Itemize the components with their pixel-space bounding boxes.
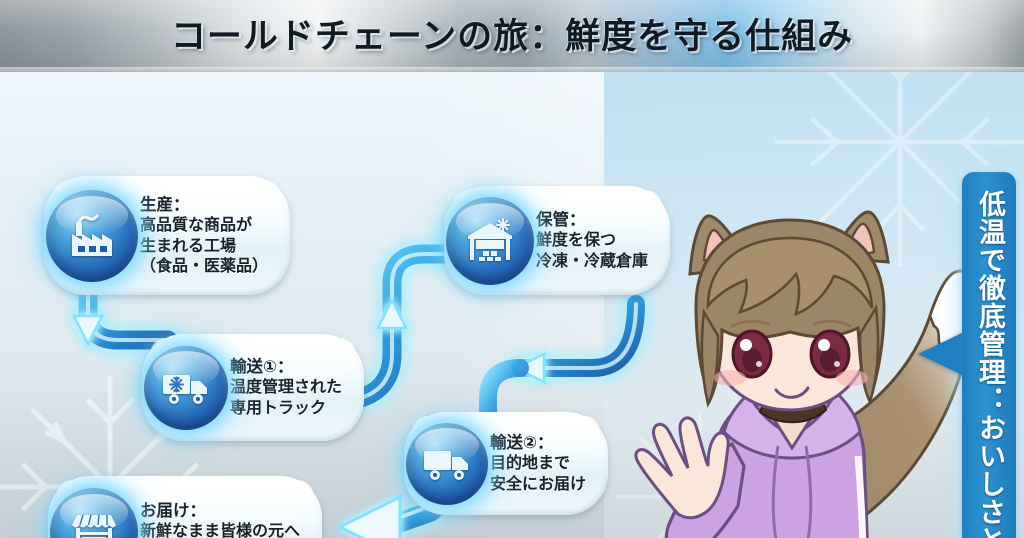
delivery-truck-icon [406, 423, 488, 505]
page-title: コールドチェーンの旅：鮮度を守る仕組み [0, 0, 1024, 66]
step-label: 輸送②：目的地まで 安全にお届け [490, 432, 586, 494]
left-arrow-icon [340, 497, 400, 538]
flow-step-delivery[interactable]: お届け：新鮮なまま皆様の元へ (店舗・飲食店) [48, 476, 322, 538]
step-heading: お届け： [140, 501, 206, 520]
eye-right [811, 331, 849, 377]
step-heading: 輸送①： [230, 357, 293, 376]
step-pill[interactable]: お届け：新鮮なまま皆様の元へ (店舗・飲食店) [48, 476, 322, 538]
flow-step-transport1[interactable]: 輸送①：温度管理された 専用トラック [142, 334, 364, 441]
step-body: 温度管理された 専用トラック [230, 377, 342, 416]
cold-warehouse-icon [446, 197, 534, 285]
step-pill[interactable]: 輸送②：目的地まで 安全にお届け [404, 412, 608, 515]
side-banner[interactable]: 低温で徹底管理：おいしさと安全を約束 [962, 172, 1016, 538]
step-pill[interactable]: 生産：高品質な商品が 生まれる工場 （食品・医薬品） [44, 176, 290, 295]
side-banner-label: 低温で徹底管理：おいしさと安全を約束 [962, 190, 1016, 538]
waving-arm [636, 418, 744, 538]
header-banner: コールドチェーンの旅：鮮度を守る仕組み [0, 0, 1024, 76]
step-label: お届け：新鮮なまま皆様の元へ (店舗・飲食店) [140, 500, 300, 538]
flow-step-transport2[interactable]: 輸送②：目的地まで 安全にお届け [404, 412, 608, 515]
eye-left [733, 331, 771, 377]
step-heading: 保管： [536, 210, 586, 229]
step-heading: 生産： [140, 195, 190, 214]
left-arrow-icon [918, 332, 964, 376]
step-pill[interactable]: 輸送①：温度管理された 専用トラック [142, 334, 364, 441]
factory-icon [46, 190, 138, 282]
diagram-canvas: 生産：高品質な商品が 生まれる工場 （食品・医薬品） [0, 72, 1024, 538]
step-label: 生産：高品質な商品が 生まれる工場 （食品・医薬品） [140, 194, 268, 277]
flow-step-production[interactable]: 生産：高品質な商品が 生まれる工場 （食品・医薬品） [44, 176, 290, 295]
step-heading: 輸送②： [490, 433, 553, 452]
infographic-root: コールドチェーンの旅：鮮度を守る仕組み [0, 0, 1024, 538]
refrigerated-truck-icon [144, 346, 228, 430]
step-body: 高品質な商品が 生まれる工場 （食品・医薬品） [140, 215, 268, 275]
step-label: 輸送①：温度管理された 専用トラック [230, 356, 342, 418]
step-body: 目的地まで 安全にお届け [490, 453, 586, 492]
storefront-icon [50, 488, 138, 538]
step-body: 新鮮なまま皆様の元へ (店舗・飲食店) [140, 521, 300, 538]
head [690, 212, 888, 410]
